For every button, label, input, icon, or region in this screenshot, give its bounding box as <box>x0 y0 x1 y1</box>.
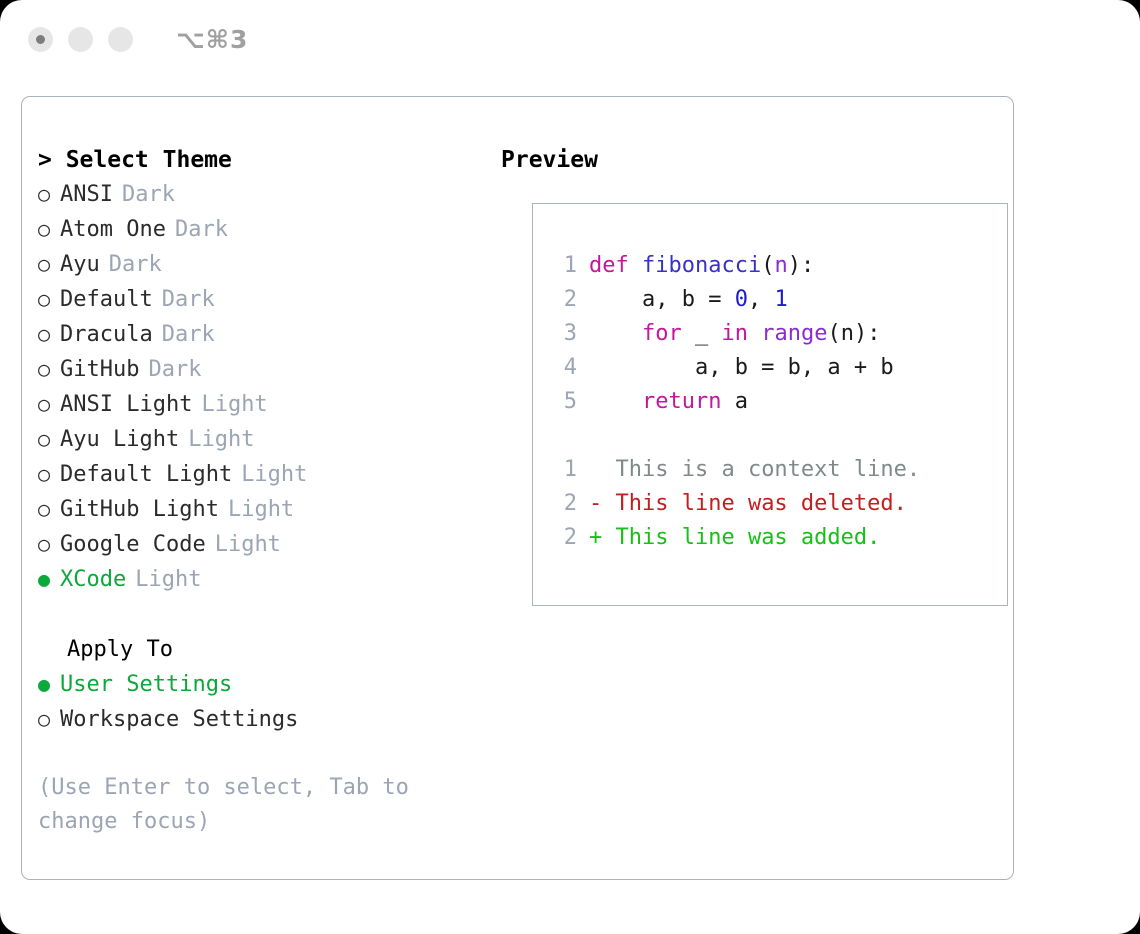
line-number: 1 <box>547 453 577 487</box>
theme-option-default[interactable]: ○DefaultDark <box>38 282 478 317</box>
theme-option-atom-one[interactable]: ○Atom OneDark <box>38 212 478 247</box>
radio-unselected-icon: ○ <box>38 212 60 246</box>
keyboard-shortcut-label: ⌥⌘3 <box>176 25 248 54</box>
code-token: a, b = b, a + b <box>589 351 894 385</box>
diff-marker <box>589 453 602 487</box>
apply-to-option-label: Workspace Settings <box>60 703 298 737</box>
radio-selected-icon: ● <box>38 667 60 701</box>
theme-option-label: Atom One <box>60 213 166 247</box>
window-dot-third[interactable] <box>108 27 133 52</box>
theme-option-mode: Dark <box>162 283 215 317</box>
window-dot-second[interactable] <box>68 27 93 52</box>
line-number: 1 <box>547 249 577 283</box>
theme-option-github[interactable]: ○GitHubDark <box>38 352 478 387</box>
code-line: 2 a, b = 0, 1 <box>547 283 920 317</box>
theme-option-dracula[interactable]: ○DraculaDark <box>38 317 478 352</box>
code-line: 4 a, b = b, a + b <box>547 351 920 385</box>
theme-option-ansi[interactable]: ○ANSIDark <box>38 177 478 212</box>
radio-unselected-icon: ○ <box>38 282 60 316</box>
radio-unselected-icon: ○ <box>38 177 60 211</box>
radio-unselected-icon: ○ <box>38 317 60 351</box>
code-token: a <box>721 385 748 419</box>
radio-selected-icon: ● <box>38 562 60 596</box>
theme-option-label: XCode <box>60 563 126 597</box>
theme-option-label: GitHub Light <box>60 493 219 527</box>
hint-spacer <box>38 737 478 771</box>
theme-option-mode: Dark <box>162 318 215 352</box>
line-number: 4 <box>547 351 577 385</box>
theme-option-mode: Dark <box>148 353 201 387</box>
code-token: 1 <box>774 283 787 317</box>
radio-unselected-icon: ○ <box>38 352 60 386</box>
code-token: n <box>774 249 787 283</box>
code-token: a, b = <box>589 283 735 317</box>
code-line: 3 for _ in range(n): <box>547 317 920 351</box>
app-window: ⌥⌘3 > Select Theme ○ANSIDark○Atom OneDar… <box>0 0 1140 934</box>
line-number: 2 <box>547 521 577 555</box>
theme-option-mode: Dark <box>109 248 162 282</box>
code-token: ): <box>788 249 815 283</box>
theme-option-label: GitHub <box>60 353 139 387</box>
code-line: 5 return a <box>547 385 920 419</box>
theme-option-label: Ayu Light <box>60 423 179 457</box>
preview-heading: Preview <box>501 143 1001 177</box>
radio-unselected-icon: ○ <box>38 387 60 421</box>
code-token: for <box>642 317 682 351</box>
theme-picker-panel: > Select Theme ○ANSIDark○Atom OneDark○Ay… <box>21 96 1014 880</box>
window-dot-active[interactable] <box>28 27 53 52</box>
theme-option-mode: Light <box>201 388 267 422</box>
code-preview: 1def fibonacci(n):2 a, b = 0, 13 for _ i… <box>547 249 920 555</box>
code-token: , <box>748 283 775 317</box>
keyboard-hint: (Use Enter to select, Tab to change focu… <box>38 771 442 839</box>
code-token: def <box>589 249 642 283</box>
apply-to-title: Apply To <box>38 633 478 667</box>
theme-option-mode: Light <box>228 493 294 527</box>
radio-unselected-icon: ○ <box>38 457 60 491</box>
diff-text: This line was deleted. <box>602 487 907 521</box>
radio-unselected-icon: ○ <box>38 422 60 456</box>
theme-option-mode: Light <box>188 423 254 457</box>
code-token: _ <box>682 317 722 351</box>
diff-marker: + <box>589 521 602 555</box>
theme-option-github-light[interactable]: ○GitHub LightLight <box>38 492 478 527</box>
line-number: 3 <box>547 317 577 351</box>
preview-box: 1def fibonacci(n):2 a, b = 0, 13 for _ i… <box>532 203 1008 606</box>
theme-option-label: ANSI Light <box>60 388 192 422</box>
panel-columns: > Select Theme ○ANSIDark○Atom OneDark○Ay… <box>22 97 1013 879</box>
theme-option-ansi-light[interactable]: ○ANSI LightLight <box>38 387 478 422</box>
apply-to-option-user-settings[interactable]: ●User Settings <box>38 667 478 702</box>
preview-column: Preview 1def fibonacci(n):2 a, b = 0, 13… <box>501 143 1001 177</box>
theme-option-mode: Light <box>135 563 201 597</box>
window-dot-active-inner <box>36 35 45 44</box>
diff-marker: - <box>589 487 602 521</box>
apply-to-option-workspace-settings[interactable]: ○Workspace Settings <box>38 702 478 737</box>
theme-option-label: Default Light <box>60 458 232 492</box>
radio-unselected-icon: ○ <box>38 492 60 526</box>
apply-to-option-label: User Settings <box>60 668 232 702</box>
theme-option-xcode[interactable]: ●XCodeLight <box>38 562 478 597</box>
theme-option-ayu[interactable]: ○AyuDark <box>38 247 478 282</box>
line-number: 5 <box>547 385 577 419</box>
code-token: in <box>721 317 748 351</box>
theme-option-mode: Dark <box>122 178 175 212</box>
code-token: 0 <box>735 283 748 317</box>
diff-line-deleted: 2- This line was deleted. <box>547 487 920 521</box>
code-token <box>589 317 642 351</box>
apply-to-list[interactable]: ●User Settings○Workspace Settings <box>38 667 478 737</box>
line-number: 2 <box>547 487 577 521</box>
theme-option-label: ANSI <box>60 178 113 212</box>
diff-text: This is a context line. <box>602 453 920 487</box>
theme-list[interactable]: ○ANSIDark○Atom OneDark○AyuDark○DefaultDa… <box>38 177 478 597</box>
code-token: ( <box>761 249 774 283</box>
title-bar: ⌥⌘3 <box>0 0 1140 78</box>
theme-option-mode: Dark <box>175 213 228 247</box>
theme-option-mode: Light <box>215 528 281 562</box>
code-token: range <box>761 317 827 351</box>
code-token: return <box>642 385 721 419</box>
radio-unselected-icon: ○ <box>38 247 60 281</box>
code-token: fibonacci <box>642 249 761 283</box>
diff-line-context: 1 This is a context line. <box>547 453 920 487</box>
select-theme-heading: > Select Theme <box>38 143 478 177</box>
code-blank-line <box>547 419 920 453</box>
theme-option-label: Default <box>60 283 153 317</box>
diff-text: This line was added. <box>602 521 880 555</box>
theme-option-label: Dracula <box>60 318 153 352</box>
theme-option-mode: Light <box>241 458 307 492</box>
theme-option-label: Google Code <box>60 528 206 562</box>
diff-line-added: 2+ This line was added. <box>547 521 920 555</box>
radio-unselected-icon: ○ <box>38 702 60 736</box>
line-number: 2 <box>547 283 577 317</box>
code-token <box>589 385 642 419</box>
theme-selector-column: > Select Theme ○ANSIDark○Atom OneDark○Ay… <box>38 143 478 839</box>
apply-to-spacer <box>38 597 478 633</box>
code-token: (n): <box>827 317 880 351</box>
theme-option-label: Ayu <box>60 248 100 282</box>
code-token <box>748 317 761 351</box>
radio-unselected-icon: ○ <box>38 527 60 561</box>
theme-option-ayu-light[interactable]: ○Ayu LightLight <box>38 422 478 457</box>
theme-option-google-code[interactable]: ○Google CodeLight <box>38 527 478 562</box>
theme-option-default-light[interactable]: ○Default LightLight <box>38 457 478 492</box>
code-line: 1def fibonacci(n): <box>547 249 920 283</box>
